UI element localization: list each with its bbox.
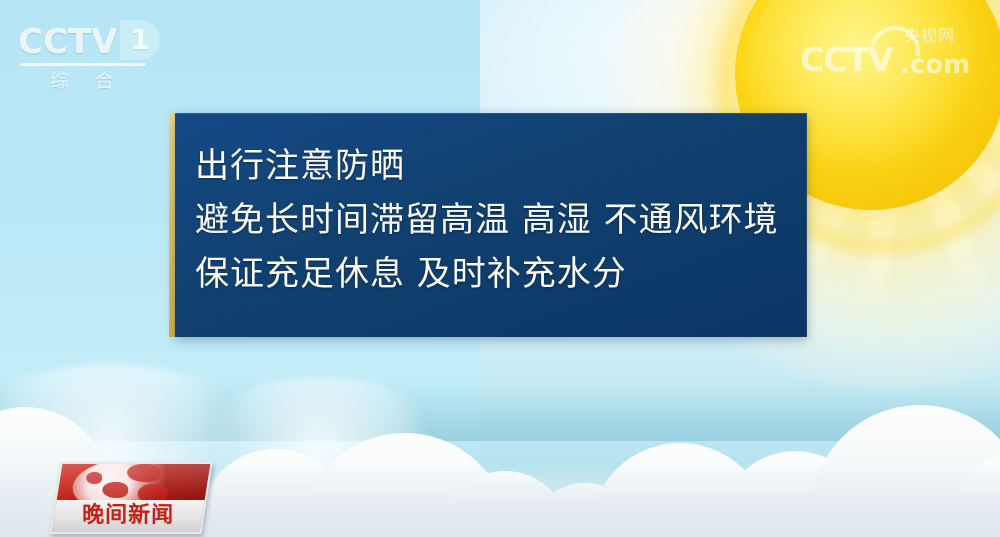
globe-landmass [85, 472, 103, 484]
cctv1-channel-bug: CCTV 1 综 合 [18, 22, 162, 88]
program-logo: 晚间新闻 [49, 462, 212, 534]
broadcast-frame: CCTV 1 综 合 CCTV .com 央视网 出行注意防晒 避免长时间滞留高… [0, 0, 1000, 537]
lower-third-line-2: 避免长时间滞留高温 高湿 不通风环境 [195, 193, 793, 247]
cctv-com-domain: .com [900, 50, 970, 80]
cctv-com-watermark: CCTV .com 央视网 [800, 22, 965, 80]
cctv-com-wordmark: CCTV [800, 40, 893, 79]
globe-landmass [101, 482, 130, 498]
lower-third-panel: 出行注意防晒 避免长时间滞留高温 高湿 不通风环境 保证充足休息 及时补充水分 [175, 113, 807, 337]
cctv1-wordmark: CCTV [18, 22, 117, 62]
program-title-banner: 晚间新闻 [52, 500, 205, 532]
lower-third-line-3: 保证充足休息 及时补充水分 [195, 247, 793, 301]
program-title: 晚间新闻 [54, 500, 202, 532]
lower-third-text-block: 出行注意防晒 避免长时间滞留高温 高湿 不通风环境 保证充足休息 及时补充水分 [195, 139, 793, 301]
cctv1-channel-number: 1 [120, 20, 160, 60]
cctv1-subtitle: 综 合 [50, 66, 124, 93]
globe-landmass [126, 464, 163, 482]
lower-third-line-1: 出行注意防晒 [195, 139, 793, 193]
cctv-com-chinese: 央视网 [904, 22, 955, 46]
